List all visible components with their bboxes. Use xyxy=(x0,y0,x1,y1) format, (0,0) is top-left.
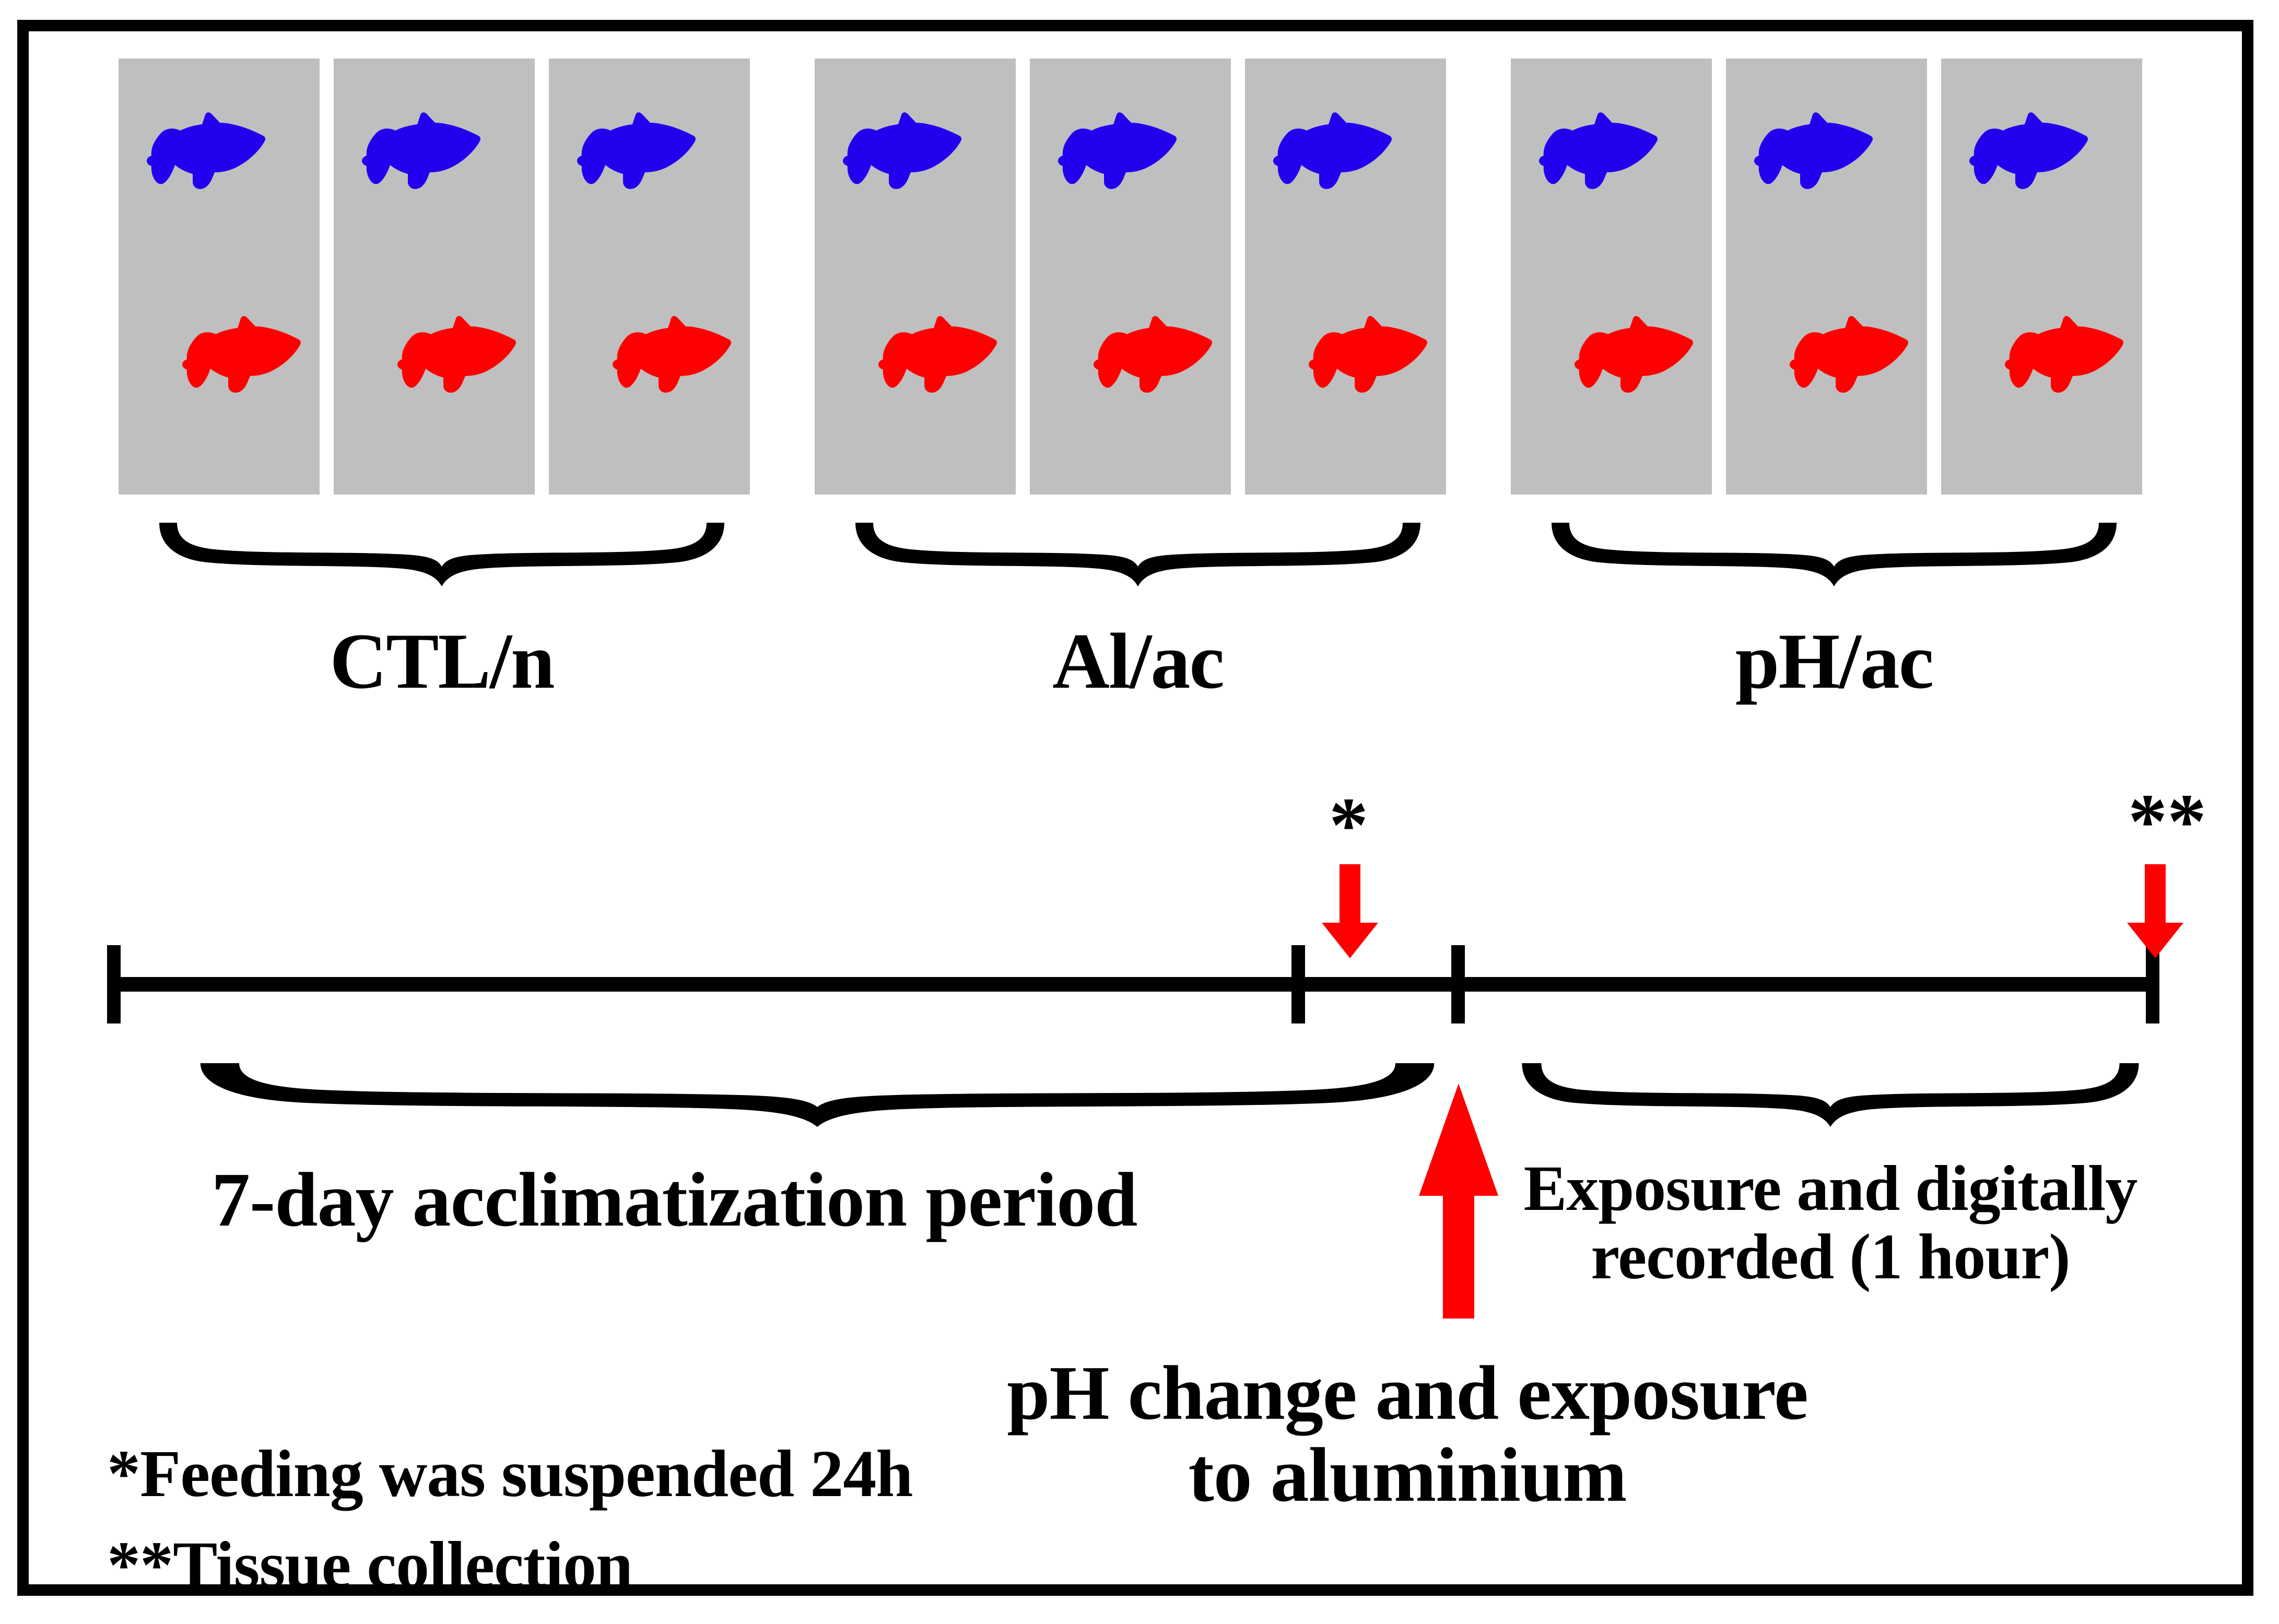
tank xyxy=(815,58,1016,495)
fish-icon xyxy=(566,111,699,189)
tank xyxy=(549,58,750,495)
tank xyxy=(1511,58,1712,495)
fish-icon xyxy=(171,314,304,393)
curly-brace-icon xyxy=(196,1061,1439,1127)
fish-icon xyxy=(831,111,965,189)
fish-icon xyxy=(1993,314,2127,393)
footnote-feeding: *Feeding was suspended 24h xyxy=(107,1439,1256,1510)
arrow-down-icon xyxy=(1319,864,1381,958)
tank xyxy=(334,58,535,495)
tank xyxy=(1030,58,1231,495)
figure-stage: CTL/n Al/ac pH/ac * ** xyxy=(29,31,2265,1607)
timeline-tick-exposure-start xyxy=(1451,945,1465,1023)
fish-icon xyxy=(1958,111,2091,189)
footnote-tissue: **Tissue collection xyxy=(107,1530,1256,1601)
fish-icon xyxy=(1563,314,1696,393)
arrow-down-icon xyxy=(2124,864,2187,958)
fish-icon xyxy=(1778,314,1911,393)
group-label-ph: pH/ac xyxy=(1549,621,2119,701)
fish-icon xyxy=(867,314,1000,393)
fish-icon xyxy=(386,314,519,393)
fish-icon xyxy=(135,111,268,189)
curly-brace-icon xyxy=(1549,521,2119,586)
tank xyxy=(119,58,320,495)
tank xyxy=(1245,58,1446,495)
fish-icon xyxy=(1297,314,1430,393)
fish-icon xyxy=(1082,314,1215,393)
timeline-tick-feeding xyxy=(1291,945,1305,1023)
group-label-ctl: CTL/n xyxy=(157,621,726,701)
fish-icon xyxy=(1047,111,1180,189)
group-label-al: Al/ac xyxy=(853,621,1423,701)
tank xyxy=(1941,58,2142,495)
timeline-tick-start xyxy=(107,945,121,1023)
fish-icon xyxy=(601,314,734,393)
figure-border: CTL/n Al/ac pH/ac * ** xyxy=(17,20,2253,1596)
fish-icon xyxy=(1528,111,1661,189)
phase-label-exposure: Exposure and digitally recorded (1 hour) xyxy=(1507,1154,2154,1291)
fish-icon xyxy=(1262,111,1395,189)
phase-label-acclimatization: 7-day acclimatization period xyxy=(212,1159,1308,1241)
fish-icon xyxy=(350,111,484,189)
asterisk-icon: * xyxy=(1329,786,1368,864)
curly-brace-icon xyxy=(157,521,726,586)
curly-brace-icon xyxy=(1520,1061,2141,1127)
curly-brace-icon xyxy=(853,521,1423,586)
tank xyxy=(1726,58,1927,495)
fish-icon xyxy=(1743,111,1876,189)
asterisk-icon: ** xyxy=(2128,782,2206,861)
timeline-axis xyxy=(107,977,2159,992)
